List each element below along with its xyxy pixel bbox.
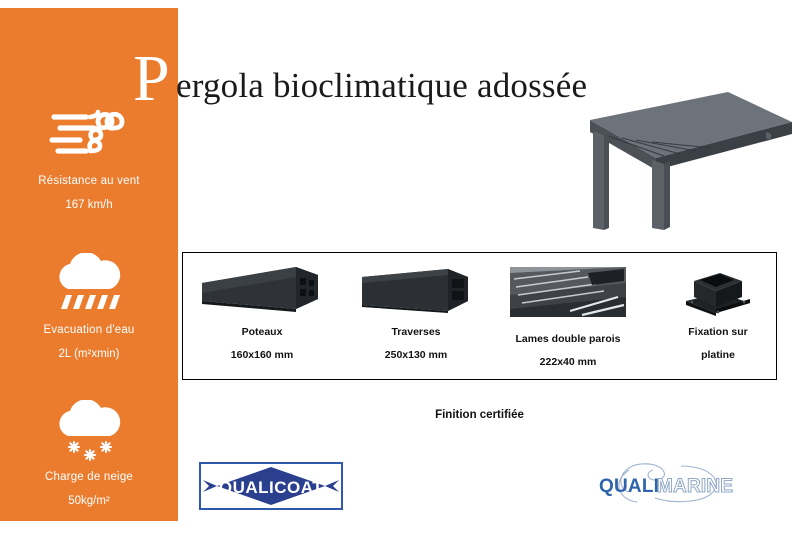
spec-water-label: Evacuation d'eau [0, 324, 178, 336]
product-item: Traverses 250x130 mm [343, 253, 489, 381]
product-name: Traverses [343, 326, 489, 338]
spec-snow-value: 50kg/m² [0, 495, 178, 507]
product-dimensions: 222x40 mm [483, 356, 653, 368]
product-dimensions: 250x130 mm [343, 349, 489, 361]
page-title-text: ergola bioclimatique adossée [176, 64, 587, 108]
product-name: Fixation sur [663, 326, 773, 338]
document-page: Résistance au vent 167 km/h Evacuation d… [0, 0, 800, 534]
product-dimensions: platine [663, 349, 773, 361]
spec-snow: Charge de neige 50kg/m² [0, 400, 178, 507]
louvre-blades-image [483, 253, 653, 317]
qualimarine-logo-text-secondary: MARINE [657, 476, 733, 497]
product-name: Poteaux [189, 326, 335, 338]
qualicoat-logo: QUALICOAT [199, 462, 343, 510]
spec-water-value: 2L (m²xmin) [0, 348, 178, 360]
product-item: Poteaux 160x160 mm [189, 253, 335, 381]
spec-water: Evacuation d'eau 2L (m²xmin) [0, 253, 178, 360]
spec-wind: Résistance au vent 167 km/h [0, 104, 178, 211]
product-item: Lames double parois 222x40 mm [483, 253, 653, 381]
qualimarine-logo-text-primary: QUALI [599, 476, 659, 497]
certification-heading: Finition certifiée [182, 409, 777, 421]
base-plate-image [663, 253, 773, 317]
specs-sidebar: Résistance au vent 167 km/h Evacuation d… [0, 8, 178, 521]
product-dimensions: 160x160 mm [189, 349, 335, 361]
products-box: Poteaux 160x160 mm Traverses 250x130 mm [182, 252, 777, 380]
product-name: Lames double parois [483, 333, 653, 345]
wind-icon [0, 104, 178, 166]
product-item: Fixation sur platine [663, 253, 773, 381]
spec-snow-label: Charge de neige [0, 471, 178, 483]
spec-wind-value: 167 km/h [0, 199, 178, 211]
post-profile-image [189, 253, 335, 317]
snow-cloud-icon [0, 400, 178, 462]
pergola-illustration [560, 78, 796, 238]
qualicoat-logo-text: QUALICOAT [219, 478, 323, 497]
spec-wind-label: Résistance au vent [0, 175, 178, 187]
qualimarine-logo: QUALI MARINE [585, 458, 745, 510]
rain-cloud-icon [0, 253, 178, 315]
beam-profile-image [343, 253, 489, 317]
